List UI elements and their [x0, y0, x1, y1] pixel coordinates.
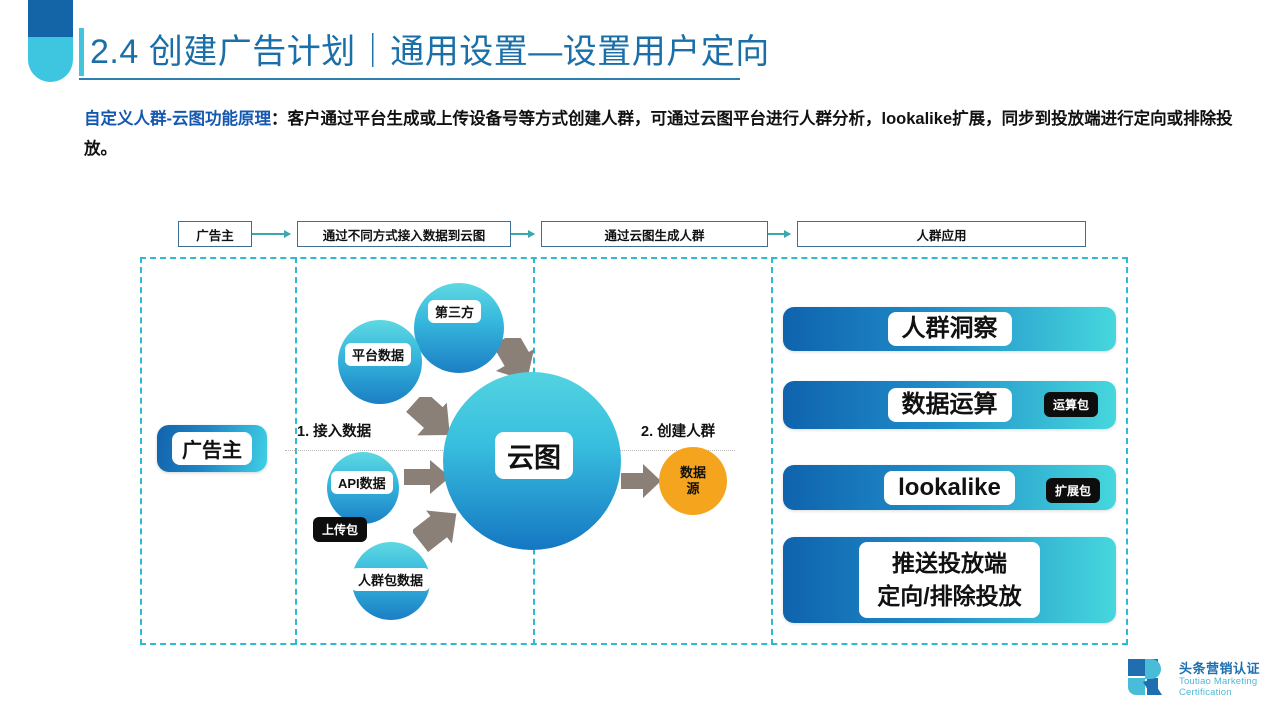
advertiser-pill: 广告主 [157, 425, 267, 472]
bubble-third-party [414, 283, 504, 373]
step-label-1: 1. 接入数据 [297, 420, 371, 441]
subtitle-highlight: 自定义人群-云图功能原理 [84, 110, 271, 128]
bubble-label-third-party: 第三方 [428, 300, 481, 323]
app-bar-push-delivery: 推送投放端 定向/排除投放 [783, 537, 1116, 623]
slide-root: 2.4 创建广告计划｜通用设置—设置用户定向 自定义人群-云图功能原理：客户通过… [0, 0, 1280, 720]
source-circle-line1: 数据 [680, 465, 706, 481]
flow-arrow-2-icon [511, 233, 534, 235]
badge-calc-package: 运算包 [1044, 392, 1098, 417]
subtitle: 自定义人群-云图功能原理：客户通过平台生成或上传设备号等方式创建人群，可通过云图… [84, 104, 1234, 164]
badge-expand-package: 扩展包 [1046, 478, 1100, 503]
footer-logo: 头条营销认证 Toutiao Marketing Certification [1128, 657, 1260, 701]
header-deco-square [28, 0, 73, 37]
app-bar-crowd-insight: 人群洞察 [783, 307, 1116, 351]
app-bar-label-data-compute: 数据运算 [888, 388, 1012, 422]
toutiao-logo-icon [1128, 657, 1172, 701]
flow-arrow-1-icon [252, 233, 290, 235]
panel-divider-3 [771, 257, 773, 645]
app-bar-label-lookalike: lookalike [884, 471, 1015, 505]
flow-arrow-3-icon [768, 233, 790, 235]
flow-header-advertiser: 广告主 [178, 221, 252, 247]
app-bar-label-push-line2: 定向/排除投放 [877, 580, 1021, 613]
header-deco-quartercircle [28, 37, 73, 82]
app-bar-label-push-line1: 推送投放端 [877, 547, 1021, 580]
source-circle-line2: 源 [686, 481, 699, 497]
title-accent-bar [79, 28, 84, 76]
logo-text-block: 头条营销认证 Toutiao Marketing Certification [1179, 661, 1260, 698]
logo-title-en-2: Certification [1179, 687, 1260, 698]
flow-header-application: 人群应用 [797, 221, 1086, 247]
bubble-label-crowd-package-data: 人群包数据 [351, 568, 430, 591]
flow-header-ingest: 通过不同方式接入数据到云图 [297, 221, 511, 247]
page-title: 2.4 创建广告计划｜通用设置—设置用户定向 [90, 29, 770, 75]
flow-header-generate: 通过云图生成人群 [541, 221, 768, 247]
bubble-label-api-data: API数据 [331, 471, 393, 494]
bubble-label-platform-data: 平台数据 [345, 343, 411, 366]
badge-upload-package: 上传包 [313, 517, 367, 542]
advertiser-label: 广告主 [172, 432, 252, 465]
panel-divider-1 [295, 257, 297, 645]
app-bar-label-push-delivery: 推送投放端 定向/排除投放 [859, 542, 1039, 618]
logo-title-cn: 头条营销认证 [1179, 661, 1260, 676]
arrow-yuntu-to-source-icon [621, 462, 663, 500]
app-bar-label-crowd-insight: 人群洞察 [888, 312, 1012, 346]
bubble-label-yuntu: 云图 [495, 432, 573, 479]
title-underline [79, 78, 740, 80]
step-label-2: 2. 创建人群 [641, 420, 715, 441]
logo-title-en-1: Toutiao Marketing [1179, 676, 1260, 687]
source-circle: 数据 源 [659, 447, 727, 515]
